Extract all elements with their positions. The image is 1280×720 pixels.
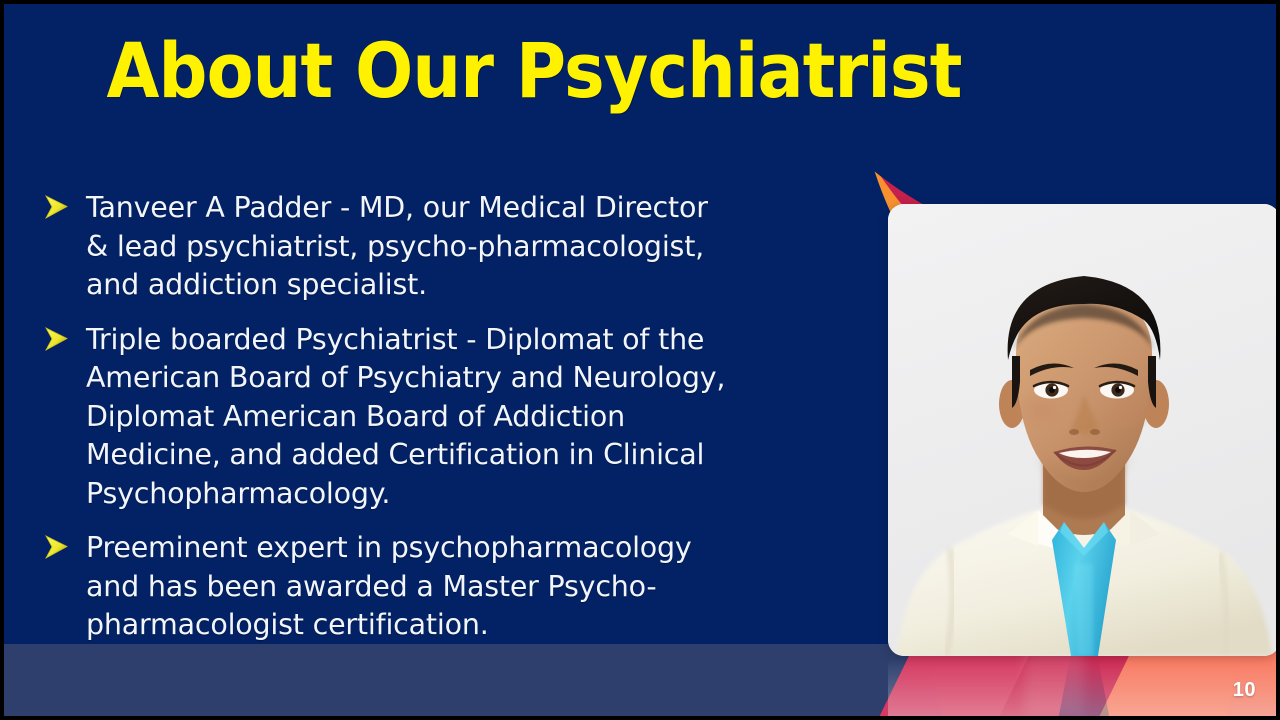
slide-number: 10 (1233, 679, 1256, 702)
list-item-label: Tanveer A Padder - MD, our Medical Direc… (86, 191, 708, 301)
psychiatrist-portrait-photo (888, 204, 1276, 656)
arrowhead-bullet-icon (42, 194, 72, 220)
presentation-slide: About Our Psychiatrist (0, 0, 1280, 720)
arrowhead-bullet-icon (42, 326, 72, 352)
slide-canvas: About Our Psychiatrist (4, 4, 1276, 716)
arrowhead-bullet-icon (42, 534, 72, 560)
list-item: Tanveer A Padder - MD, our Medical Direc… (40, 189, 860, 305)
page-title: About Our Psychiatrist (57, 32, 1011, 110)
list-item-label: Triple boarded Psychiatrist - Diplomat o… (86, 323, 725, 510)
list-item-label: Preeminent expert in psychopharmacology … (86, 531, 692, 641)
bullet-list: Tanveer A Padder - MD, our Medical Direc… (40, 189, 860, 661)
list-item: Triple boarded Psychiatrist - Diplomat o… (40, 321, 860, 514)
list-item: Preeminent expert in psychopharmacology … (40, 529, 860, 645)
